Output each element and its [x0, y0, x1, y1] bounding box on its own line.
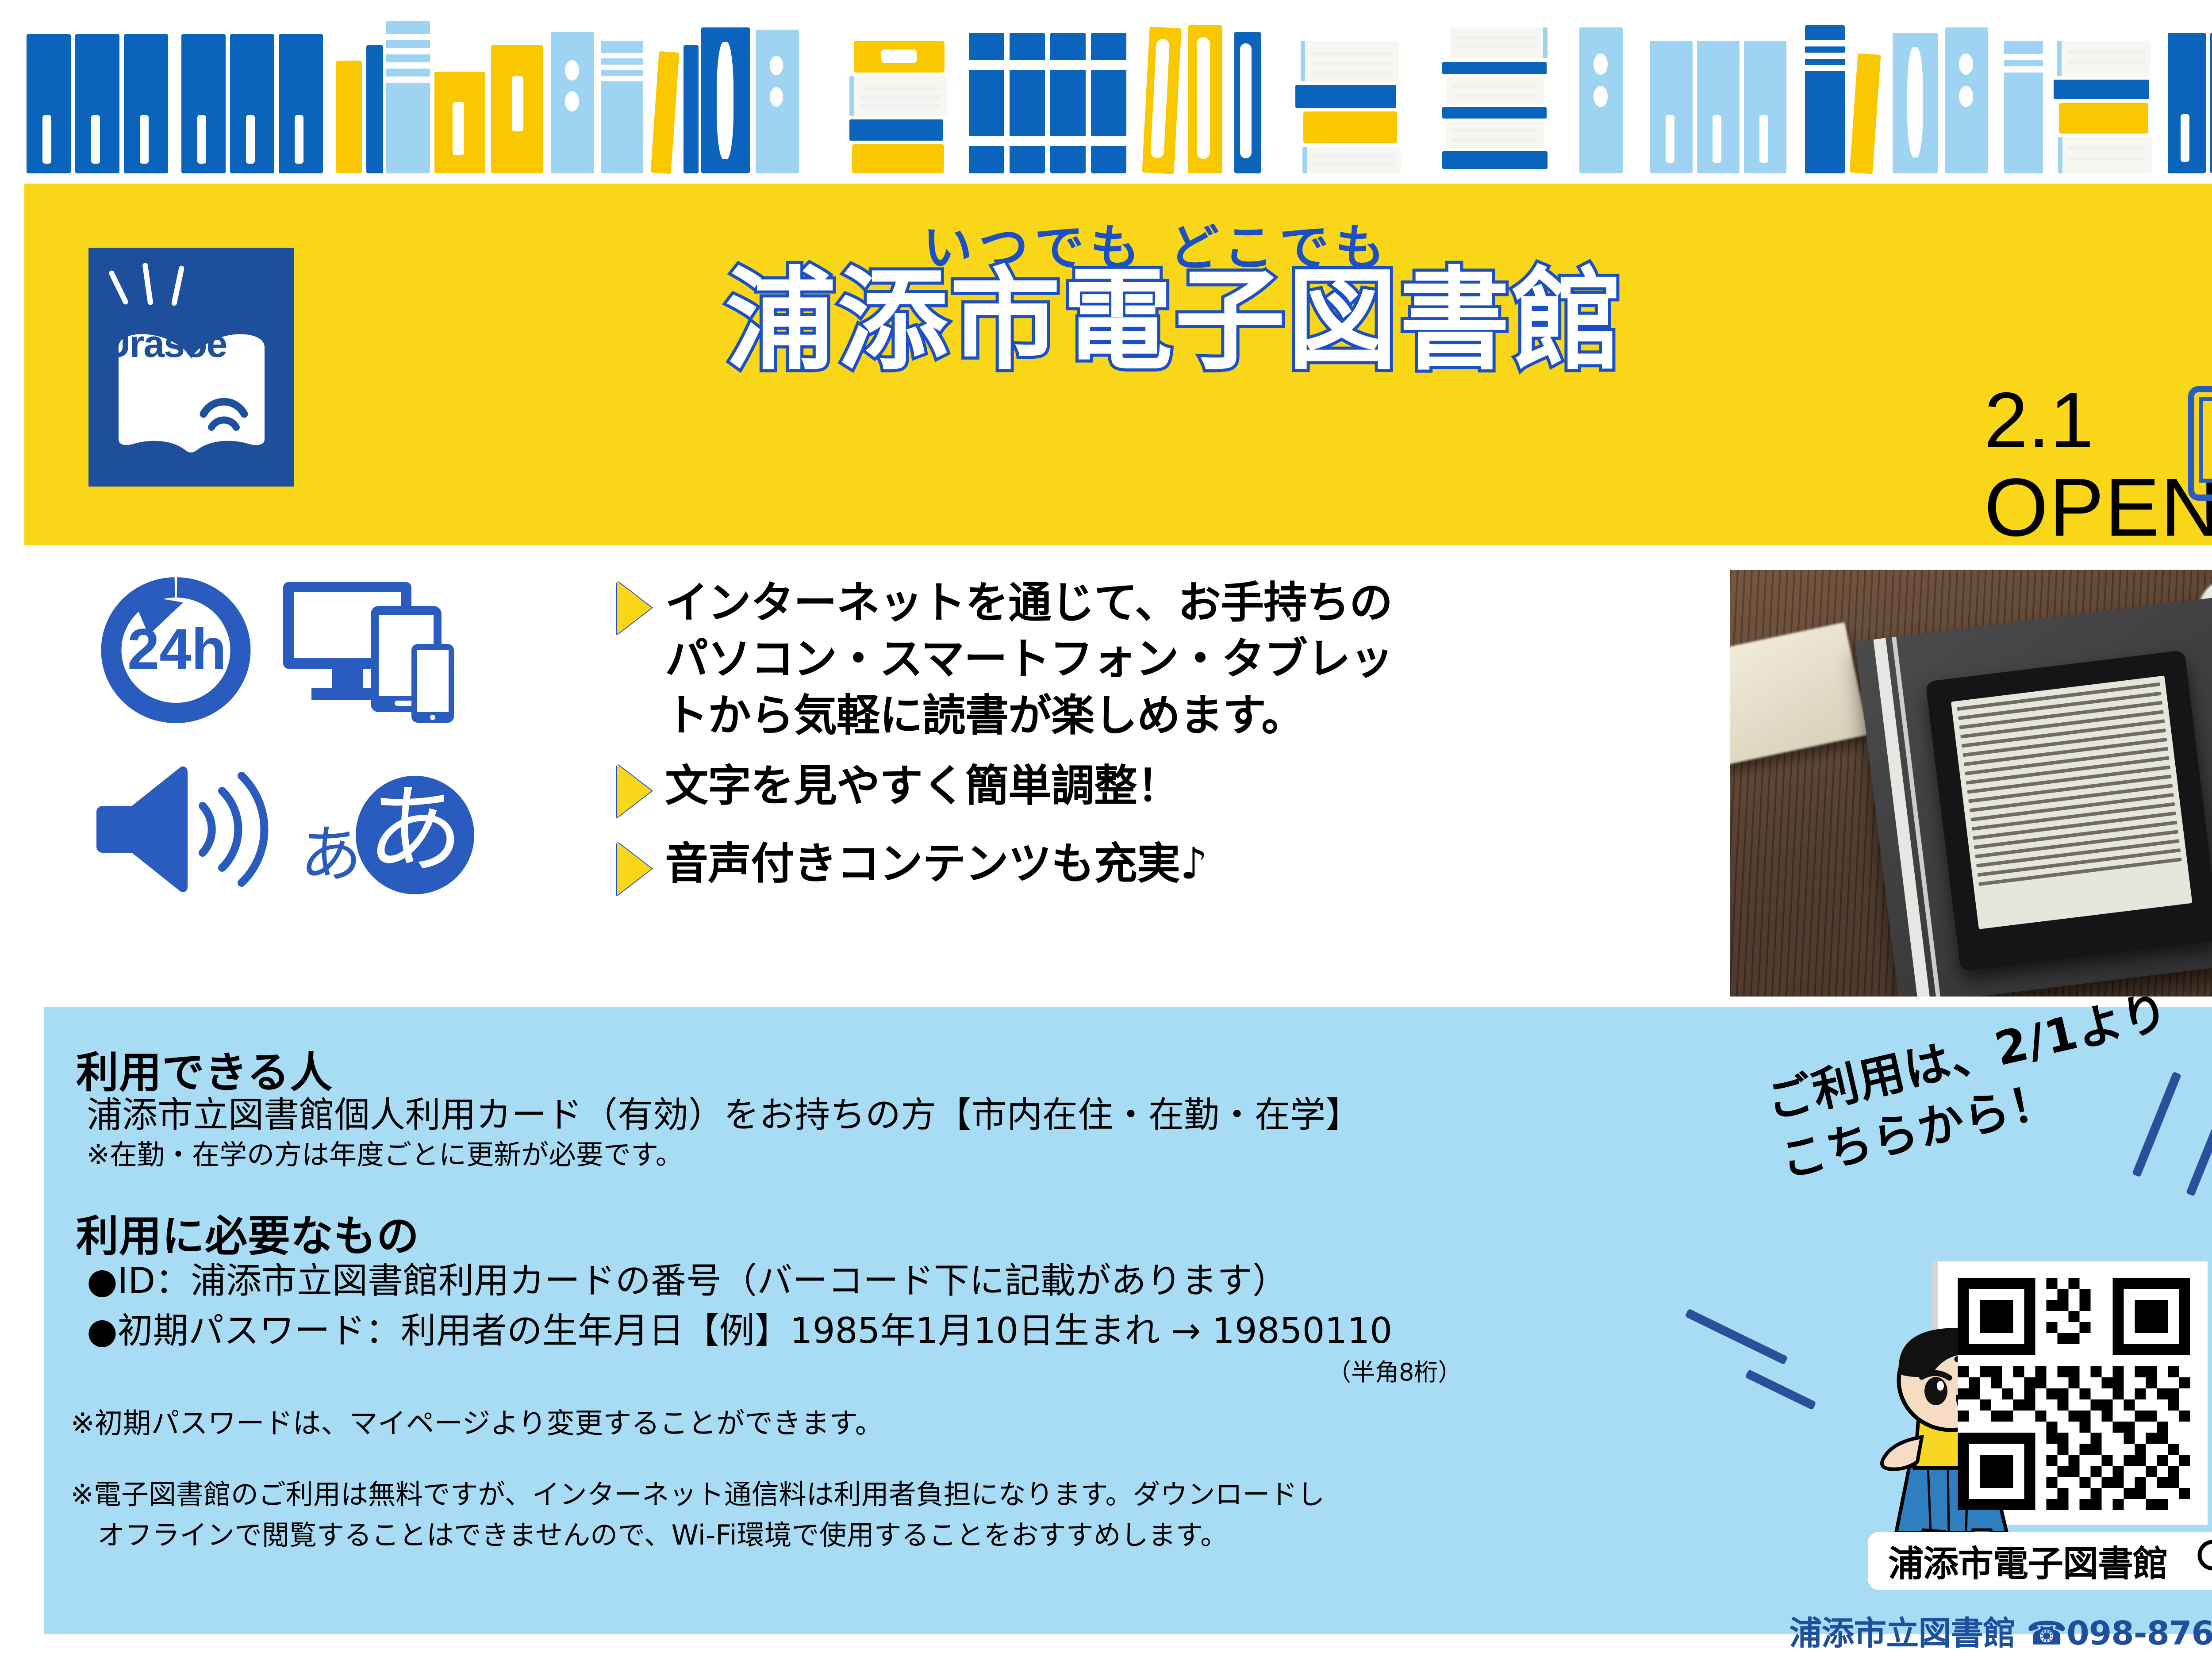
- ereader-photo: [1730, 570, 2212, 997]
- feature-bullet-text: 音声付きコンテンツも充実♪: [665, 836, 1701, 892]
- book-spine: [491, 45, 543, 173]
- access-block: ご利用は、2/1より こちらから！: [1752, 1060, 2212, 1626]
- feature-bullet-text: インターネットを通じて、お手持ちの パソコン・スマートフォン・タブレッ トから気…: [665, 575, 1701, 744]
- triangle-bullet-icon: [617, 764, 652, 817]
- feature-bullet-list: インターネットを通じて、お手持ちの パソコン・スマートフォン・タブレッ トから気…: [617, 575, 1701, 900]
- decor-slash: [1685, 1308, 1788, 1365]
- book-spine: [2168, 33, 2206, 173]
- wifi-icon: [197, 394, 250, 442]
- title-banner: Urasoe いつでも どこでも 浦添市電子図書館 2.1 OPEN: [24, 184, 2212, 545]
- book-spine-decoration-band: [0, 0, 2212, 177]
- book-spine: [1945, 27, 1988, 173]
- book-spine: [1579, 27, 1623, 173]
- eligible-line-1: 浦添市立図書館個人利用カード（有効）をお持ちの方【市内在住・在勤・在学】: [87, 1091, 1361, 1138]
- info-panel: 利用できる人 浦添市立図書館個人利用カード（有効）をお持ちの方【市内在住・在勤・…: [44, 1007, 2212, 1634]
- book-stack: [1442, 27, 1553, 173]
- book-spine: [1091, 33, 1126, 173]
- search-keyword-label: 浦添市電子図書館: [1888, 1535, 2168, 1587]
- section-heading-required: 利用に必要なもの: [76, 1202, 419, 1263]
- page-title: 浦添市電子図書館: [405, 261, 1944, 380]
- note-fees-line-2: オフラインで閲覧することはできませんので、Wi-Fi環境で使用することをおすすめ…: [97, 1517, 1228, 1553]
- book-spine: [434, 72, 485, 173]
- book-spine: [230, 34, 274, 173]
- book-spine: [601, 41, 643, 173]
- book-spine: [75, 34, 119, 173]
- book-spine-tilted: [1850, 54, 1881, 174]
- book-stack: [849, 41, 945, 173]
- book-spine: [1805, 25, 1845, 173]
- required-id-line: ●ID：浦添市立図書館利用カードの番号（バーコード下に記載があります）: [87, 1257, 1288, 1304]
- svg-text:24h: 24h: [127, 617, 227, 681]
- ereader-screen: [1951, 675, 2193, 929]
- svg-text:あ: あ: [367, 774, 463, 886]
- search-box[interactable]: 浦添市電子図書館: [1868, 1532, 2212, 1590]
- book-spine: [1650, 41, 1693, 173]
- urasoe-logo: Urasoe: [88, 248, 294, 487]
- book-spine: [1234, 32, 1261, 173]
- book-spine: [1893, 33, 1938, 173]
- feature-bullet-text: 文字を見やすく簡単調整！: [665, 758, 1701, 814]
- feature-bullet: 音声付きコンテンツも充実♪: [617, 836, 1701, 892]
- qr-code[interactable]: [1955, 1278, 2193, 1510]
- password-digits-note: （半角8桁）: [1327, 1357, 1462, 1388]
- required-password-line: ●初期パスワード：利用者の生年月日【例】1985年1月10日生まれ → 1985…: [87, 1307, 1392, 1354]
- book-spine-tilted: [650, 51, 679, 174]
- ereader-device: [1925, 650, 2212, 972]
- section-heading-eligible: 利用できる人: [76, 1038, 333, 1100]
- book-spine: [2210, 33, 2212, 173]
- feature-icon-group: 24h あ あ: [88, 571, 611, 986]
- book-spine: [684, 45, 699, 173]
- feature-bullet: インターネットを通じて、お手持ちの パソコン・スマートフォン・タブレッ トから気…: [617, 575, 1701, 744]
- devices-icon: [279, 579, 456, 724]
- note-fees-line-1: ※電子図書館のご利用は無料ですが、インターネット通信料は利用者負担になります。ダ…: [71, 1476, 1325, 1513]
- book-spine: [1188, 25, 1222, 173]
- logo-wordmark: Urasoe: [88, 325, 241, 363]
- book-spine: [551, 32, 594, 173]
- feature-bullet: 文字を見やすく簡単調整！: [617, 758, 1701, 814]
- book-spine: [366, 45, 383, 173]
- book-stack: [2057, 41, 2150, 173]
- 24h-icon: 24h: [88, 575, 265, 725]
- book-spine: [701, 27, 750, 173]
- note-password-change: ※初期パスワードは、マイページより変更することができます。: [71, 1405, 883, 1443]
- text-size-icon: あ あ: [301, 761, 478, 902]
- book-spine: [1697, 41, 1740, 173]
- book-spine: [2004, 41, 2043, 173]
- decor-slash: [1745, 1369, 1816, 1410]
- book-spine: [336, 61, 362, 173]
- book-spine: [756, 30, 799, 173]
- book-spine: [1050, 33, 1086, 173]
- book-spine: [181, 34, 226, 173]
- book-stack: [1301, 41, 1398, 173]
- triangle-bullet-icon: [617, 842, 652, 895]
- magnifier-icon[interactable]: [2193, 1537, 2212, 1585]
- book-spine: [386, 21, 430, 173]
- book-spine: [279, 34, 323, 173]
- triangle-bullet-icon: [617, 581, 652, 634]
- open-label: OPEN: [1984, 467, 2212, 549]
- decor-slash: [2186, 1127, 2212, 1196]
- open-date: 2.1: [1984, 383, 2170, 457]
- book-spine-tilted: [1142, 27, 1181, 174]
- library-contact: 浦添市立図書館 ☎098-876-4946: [1756, 1607, 2212, 1654]
- eligible-line-2: ※在勤・在学の方は年度ごとに更新が必要です。: [87, 1136, 683, 1173]
- svg-text:あ: あ: [301, 819, 362, 891]
- tablet-touch-icon: [2183, 385, 2212, 504]
- book-spine: [27, 34, 71, 173]
- book-spine: [124, 34, 168, 173]
- speaker-icon: [93, 756, 279, 902]
- book-spine: [1744, 41, 1786, 173]
- book-spine: [969, 33, 1004, 173]
- book-spine: [1010, 33, 1045, 173]
